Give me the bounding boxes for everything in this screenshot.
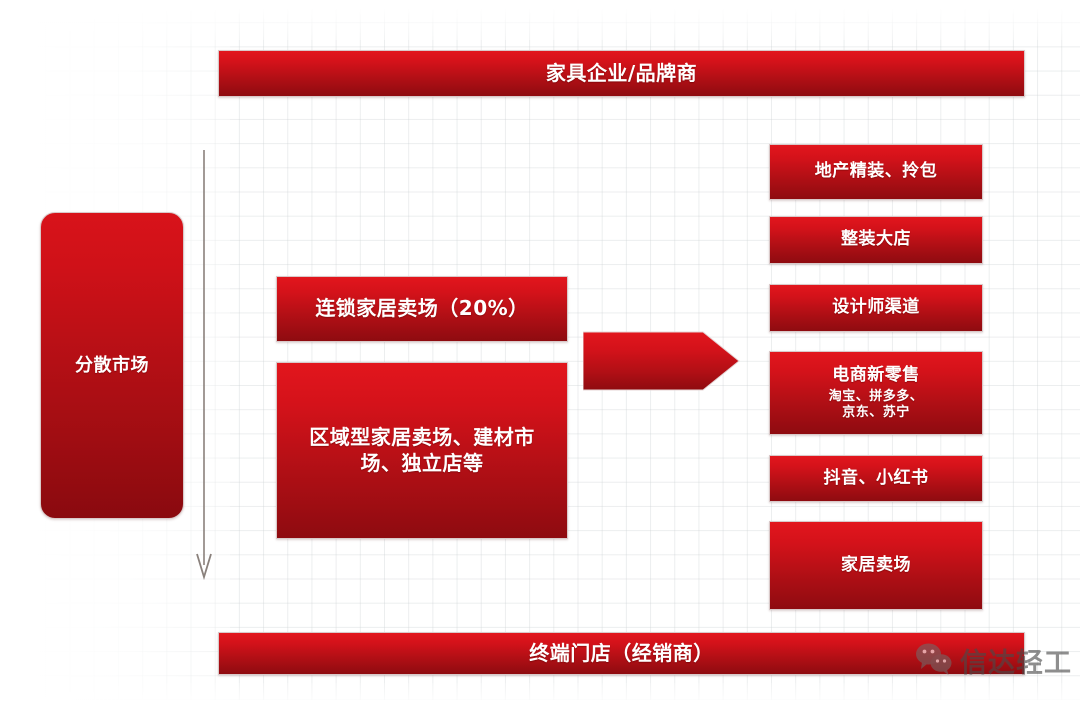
grid-fade-bottom <box>0 683 1080 719</box>
watermark: 信达轻工 <box>915 641 1072 680</box>
node-label: 家居卖场 <box>841 555 911 577</box>
node-label: 设计师渠道 <box>832 297 920 319</box>
node-douyin-xiaohongshu: 抖音、小红书 <box>769 455 983 502</box>
node-real-estate-decoration: 地产精装、拎包 <box>769 144 983 200</box>
node-sublabel: 淘宝、拼多多、京东、苏宁 <box>829 389 924 421</box>
node-fragmented-market: 分散市场 <box>40 212 184 519</box>
node-label: 地产精装、拎包 <box>815 161 938 183</box>
node-label: 抖音、小红书 <box>824 468 929 490</box>
watermark-text: 信达轻工 <box>960 641 1072 680</box>
grid-fade-top <box>0 0 1080 40</box>
node-bottom-banner: 终端门店（经销商） <box>218 632 1025 675</box>
diagram-canvas: 家具企业/品牌商 分散市场 连锁家居卖场（20%） 区域型家居卖场、建材市场、独… <box>0 0 1080 719</box>
node-home-furnishing-store: 家居卖场 <box>769 521 983 610</box>
node-top-banner: 家具企业/品牌商 <box>218 50 1025 97</box>
node-ecommerce-new-retail: 电商新零售 淘宝、拼多多、京东、苏宁 <box>769 351 983 435</box>
node-full-decoration-store: 整装大店 <box>769 216 983 264</box>
node-chain-home-store: 连锁家居卖场（20%） <box>276 276 568 342</box>
node-label: 整装大店 <box>841 229 911 251</box>
node-regional-home-store: 区域型家居卖场、建材市场、独立店等 <box>276 362 568 539</box>
arrow-right-icon <box>583 330 740 392</box>
wechat-icon <box>915 642 953 680</box>
arrow-down-icon <box>193 150 215 582</box>
node-label: 电商新零售 <box>832 365 920 387</box>
node-designer-channel: 设计师渠道 <box>769 284 983 332</box>
